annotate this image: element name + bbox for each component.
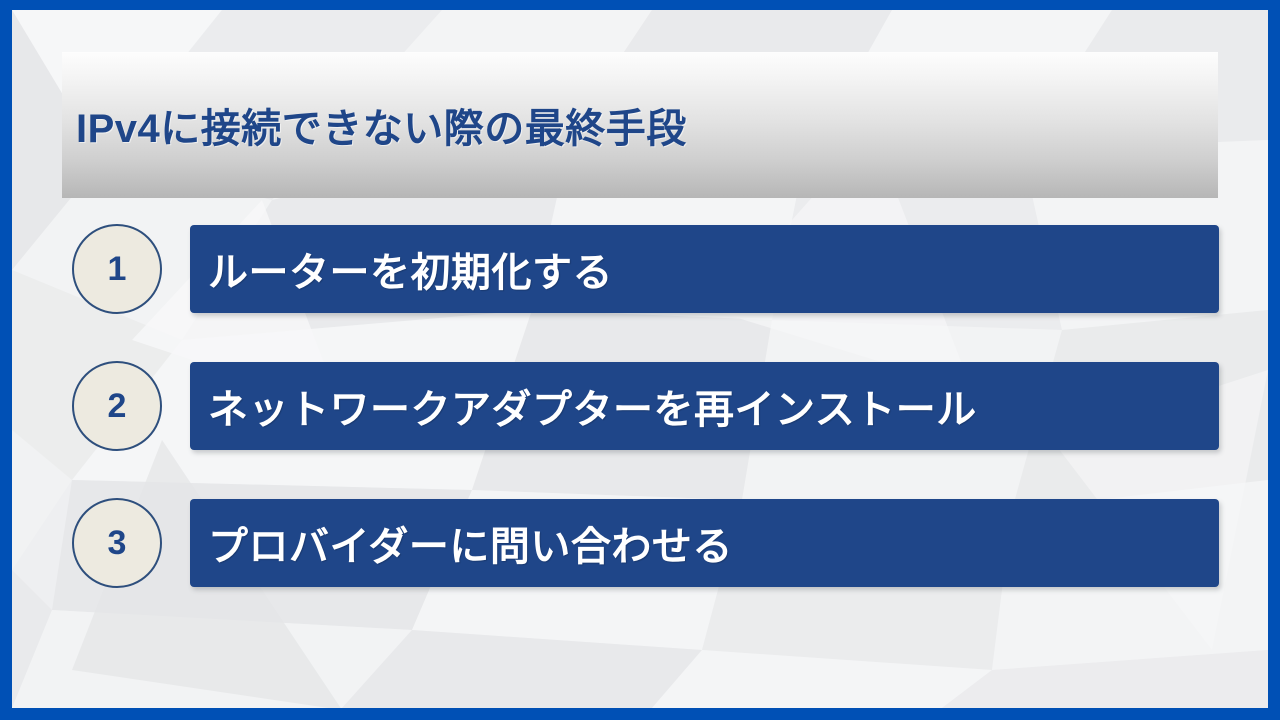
step-label: ルーターを初期化する <box>208 240 613 298</box>
list-item[interactable]: 1 ルーターを初期化する <box>12 225 1268 313</box>
step-number-label: 3 <box>108 526 127 560</box>
title-plate: IPv4に接続できない際の最終手段 <box>62 52 1218 198</box>
step-number-badge: 1 <box>72 224 162 314</box>
list-item[interactable]: 3 プロバイダーに問い合わせる <box>12 499 1268 587</box>
step-bar[interactable]: ルーターを初期化する <box>190 225 1219 313</box>
step-number-label: 1 <box>108 252 127 286</box>
page-title: IPv4に接続できない際の最終手段 <box>76 96 687 154</box>
step-number-label: 2 <box>108 389 127 423</box>
step-label: プロバイダーに問い合わせる <box>208 514 733 572</box>
step-label: ネットワークアダプターを再インストール <box>208 377 977 435</box>
slide-canvas: IPv4に接続できない際の最終手段 1 ルーターを初期化する 2 ネットワークア… <box>12 10 1268 708</box>
step-bar[interactable]: ネットワークアダプターを再インストール <box>190 362 1219 450</box>
step-number-badge: 2 <box>72 361 162 451</box>
steps-list: 1 ルーターを初期化する 2 ネットワークアダプターを再インストール 3 <box>12 225 1268 636</box>
step-number-badge: 3 <box>72 498 162 588</box>
list-item[interactable]: 2 ネットワークアダプターを再インストール <box>12 362 1268 450</box>
step-bar[interactable]: プロバイダーに問い合わせる <box>190 499 1219 587</box>
slide-root: IPv4に接続できない際の最終手段 1 ルーターを初期化する 2 ネットワークア… <box>0 0 1280 720</box>
